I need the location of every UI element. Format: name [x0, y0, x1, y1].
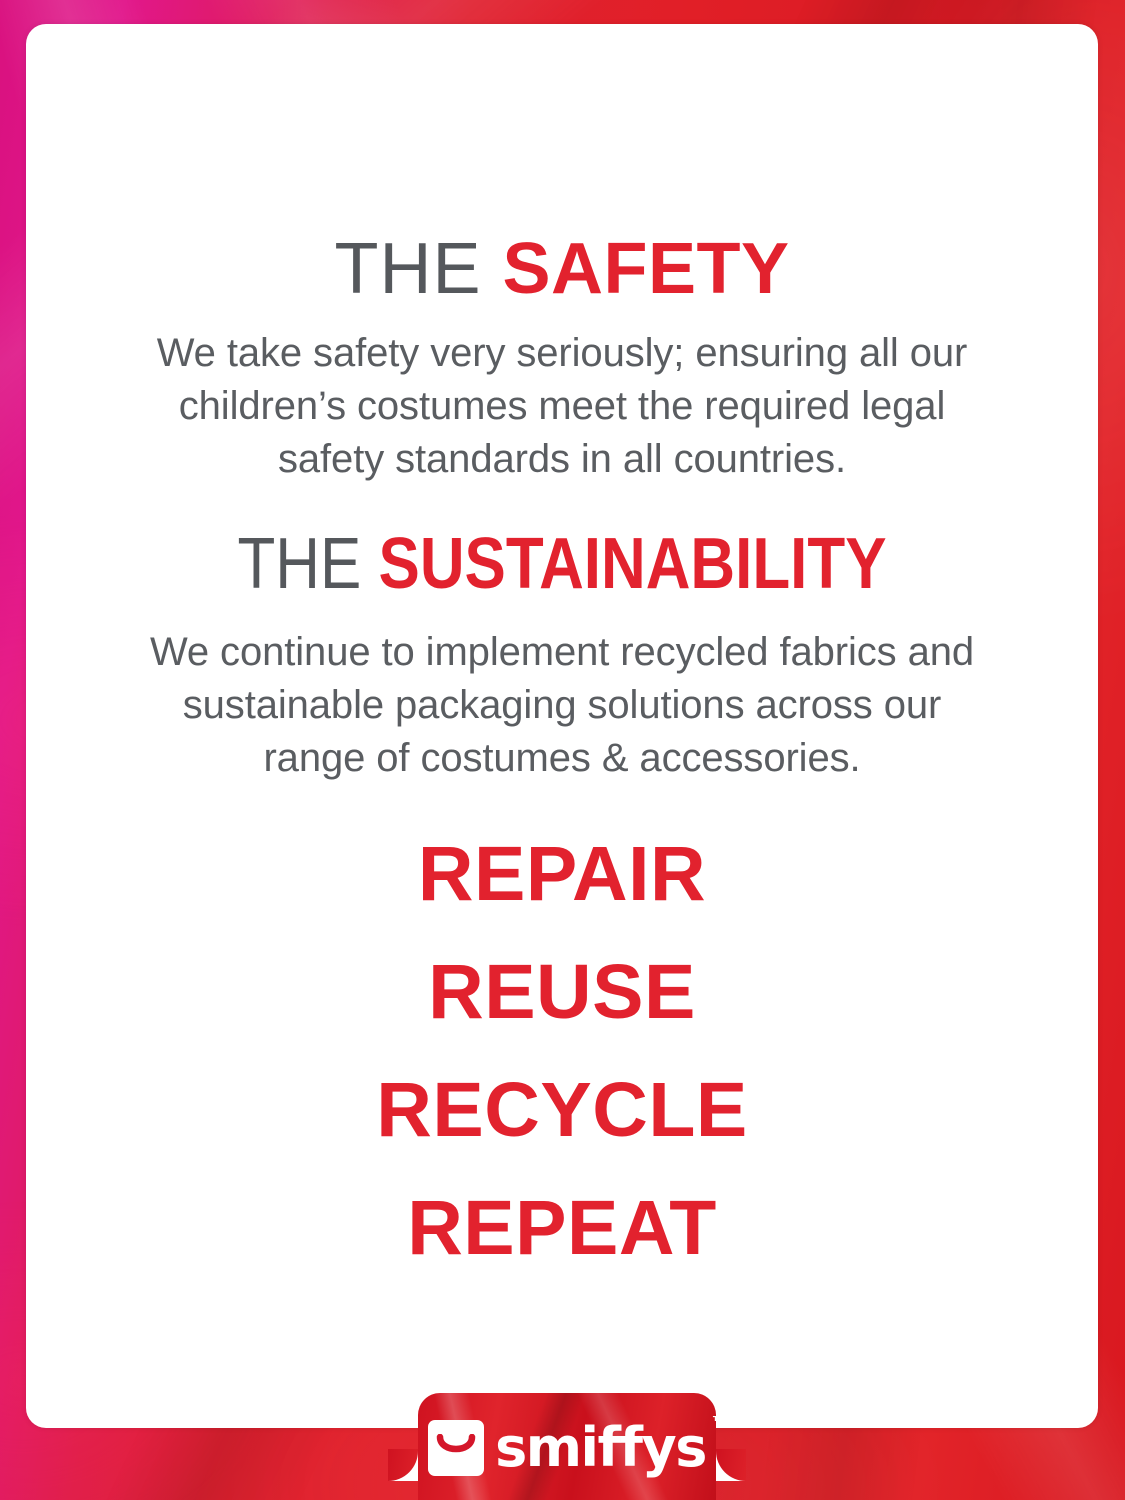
- brand-logo: smiffys™: [418, 1420, 716, 1476]
- brand-logo-banner: smiffys™: [418, 1393, 716, 1500]
- brand-wordmark-text: smiffys: [495, 1416, 706, 1479]
- slogan-line-recycle: RECYCLE: [26, 1072, 1098, 1149]
- sustainability-body-text: We continue to implement recycled fabric…: [147, 626, 977, 784]
- sustainability-heading-prefix: THE: [237, 524, 378, 604]
- sustainability-heading-accent: SUSTAINABILITY: [379, 524, 887, 604]
- safety-heading-prefix: THE: [334, 229, 502, 309]
- slogan-line-repair: REPAIR: [26, 836, 1098, 913]
- slogan-line-repeat: REPEAT: [26, 1190, 1098, 1267]
- trademark-symbol: ™: [712, 1415, 728, 1431]
- safety-body-text: We take safety very seriously; ensuring …: [132, 327, 992, 485]
- banner-shoulder-right: [716, 1449, 746, 1481]
- smile-curve-icon: [428, 1420, 484, 1476]
- banner-shoulder-left: [388, 1449, 418, 1481]
- white-content-card: THE SAFETY We take safety very seriously…: [26, 24, 1098, 1428]
- sustainability-heading: THE SUSTAINABILITY: [151, 528, 973, 600]
- poster: THE SAFETY We take safety very seriously…: [0, 0, 1125, 1500]
- slogan-line-reuse: REUSE: [26, 954, 1098, 1031]
- slogan-block: REPAIR REUSE RECYCLE REPEAT: [26, 836, 1098, 1267]
- section-sustainability: THE SUSTAINABILITY We continue to implem…: [26, 528, 1098, 784]
- brand-wordmark: smiffys™: [495, 1421, 706, 1475]
- safety-heading: THE SAFETY: [84, 233, 1040, 305]
- safety-heading-accent: SAFETY: [502, 229, 789, 309]
- section-safety: THE SAFETY We take safety very seriously…: [26, 233, 1098, 485]
